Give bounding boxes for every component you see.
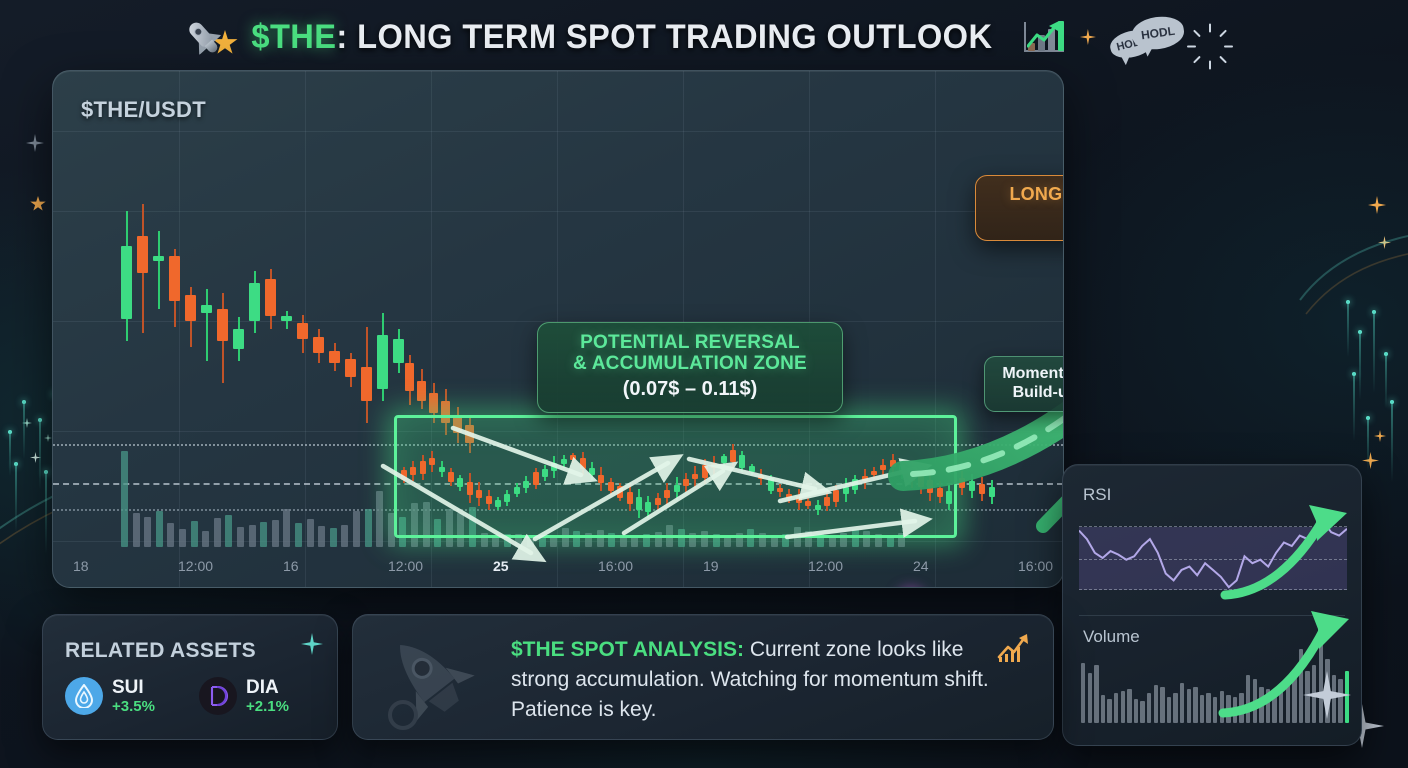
x-axis-tick: 12:00 bbox=[388, 558, 423, 574]
zone-candlestick bbox=[570, 453, 576, 463]
lightning-bolt-icon[interactable] bbox=[896, 587, 926, 588]
candlestick bbox=[405, 355, 414, 405]
related-assets-title: RELATED ASSETS bbox=[65, 639, 256, 663]
zone-candlestick bbox=[843, 478, 849, 502]
volume-bar bbox=[272, 520, 279, 547]
volume-bar bbox=[295, 523, 302, 547]
particle-streak bbox=[1347, 300, 1349, 357]
zone-candlestick bbox=[457, 475, 463, 491]
particle-streak bbox=[9, 430, 11, 476]
zone-candlestick bbox=[636, 489, 642, 518]
volume-bar bbox=[144, 517, 151, 547]
volume-panel-bar bbox=[1134, 699, 1138, 723]
volume-panel-bar bbox=[1180, 683, 1184, 723]
zone-candlestick bbox=[514, 483, 520, 497]
zone-candlestick bbox=[786, 489, 792, 503]
volume-panel-bar bbox=[1200, 695, 1204, 723]
volume-panel-bar bbox=[1193, 687, 1197, 723]
zone-candlestick bbox=[476, 482, 482, 507]
header-bar: $THE: LONG TERM SPOT TRADING OUTLOOK HOD… bbox=[0, 8, 1408, 66]
x-axis-tick: 16:00 bbox=[598, 558, 633, 574]
x-axis-tick: 24 bbox=[913, 558, 929, 574]
sui-droplet-icon bbox=[65, 677, 103, 715]
volume-bar bbox=[179, 529, 186, 547]
candlestick bbox=[281, 311, 292, 329]
page-title-rest: : LONG TERM SPOT TRADING OUTLOOK bbox=[336, 18, 992, 56]
volume-bar bbox=[237, 527, 244, 547]
zone-candlestick bbox=[909, 462, 915, 488]
candlestick bbox=[313, 329, 324, 363]
zone-candlestick bbox=[824, 492, 830, 511]
volume-panel-bar bbox=[1187, 689, 1191, 723]
zone-candlestick bbox=[805, 498, 811, 509]
zone-candlestick bbox=[420, 455, 426, 480]
zone-candlestick bbox=[561, 455, 567, 468]
candlestick bbox=[169, 249, 180, 327]
candlestick bbox=[233, 317, 244, 361]
volume-bar bbox=[260, 522, 267, 547]
particle-streak bbox=[1359, 330, 1361, 400]
zone-candlestick bbox=[664, 483, 670, 504]
volume-bar bbox=[249, 525, 256, 547]
x-axis-tick: 16 bbox=[283, 558, 299, 574]
target-box-line1: LONG TERM TARGET ZONE: bbox=[988, 184, 1064, 205]
page-title-ticker: $THE bbox=[252, 18, 337, 56]
zone-candlestick bbox=[702, 459, 708, 484]
sparkle-icon bbox=[1080, 29, 1096, 45]
zone-candlestick bbox=[495, 497, 501, 511]
candlestick bbox=[361, 327, 372, 423]
target-box-line2: 0.40$ – 0.60$ bbox=[988, 207, 1064, 230]
zone-candlestick bbox=[645, 496, 651, 518]
volume-bar bbox=[307, 519, 314, 547]
zone-candlestick bbox=[401, 467, 407, 483]
analysis-label: $THE SPOT ANALYSIS: bbox=[511, 638, 744, 661]
zone-candlestick bbox=[410, 461, 416, 481]
candlestick bbox=[249, 271, 260, 333]
zone-label-line2: & ACCUMULATION ZONE bbox=[548, 353, 832, 374]
candlestick bbox=[265, 269, 276, 329]
zone-candlestick bbox=[674, 477, 680, 500]
zone-candlestick bbox=[730, 444, 736, 468]
candlestick bbox=[329, 343, 340, 371]
zone-candlestick bbox=[937, 481, 943, 503]
page-title: $THE: LONG TERM SPOT TRADING OUTLOOK bbox=[252, 18, 993, 57]
volume-bar bbox=[191, 521, 198, 547]
zone-candlestick bbox=[833, 485, 839, 507]
particle-streak bbox=[1385, 352, 1387, 408]
candlestick bbox=[345, 353, 356, 387]
chart-arrow-icon bbox=[1027, 21, 1063, 49]
volume-panel-bar bbox=[1147, 693, 1151, 723]
x-axis-tick: 18 bbox=[73, 558, 89, 574]
volume-bar bbox=[202, 531, 209, 547]
zone-candlestick bbox=[946, 485, 952, 510]
volume-bar bbox=[341, 525, 348, 547]
candlestick bbox=[979, 477, 985, 501]
zone-candlestick bbox=[768, 475, 774, 494]
zone-candlestick bbox=[580, 452, 586, 476]
particle-streak bbox=[1391, 400, 1393, 482]
volume-panel-bar bbox=[1173, 693, 1177, 723]
asset-change: +2.1% bbox=[246, 698, 289, 715]
candlestick bbox=[297, 315, 308, 353]
zone-candlestick bbox=[627, 484, 633, 511]
volume-panel-bar bbox=[1154, 685, 1158, 723]
sunburst-icon bbox=[1196, 23, 1224, 51]
zone-candlestick bbox=[655, 493, 661, 510]
zone-candlestick bbox=[711, 456, 717, 476]
zone-candlestick bbox=[692, 466, 698, 488]
zone-candlestick bbox=[551, 456, 557, 478]
volume-bar bbox=[121, 451, 128, 547]
candlestick bbox=[989, 480, 995, 504]
particle-streak bbox=[23, 400, 25, 459]
zone-candlestick bbox=[899, 460, 905, 479]
volume-bar bbox=[376, 491, 383, 547]
rsi-title: RSI bbox=[1083, 485, 1111, 505]
asset-item-dia[interactable]: DIA +2.1% bbox=[199, 677, 289, 716]
main-chart-panel[interactable]: $THE/USDT bbox=[52, 70, 1064, 588]
zone-candlestick bbox=[598, 467, 604, 490]
analysis-text: $THE SPOT ANALYSIS: Current zone looks l… bbox=[511, 635, 1011, 724]
volume-bar bbox=[365, 509, 372, 547]
x-axis-tick: 16:00 bbox=[1018, 558, 1053, 574]
zone-candlestick bbox=[448, 468, 454, 486]
volume-title: Volume bbox=[1083, 627, 1140, 647]
zone-label-line3: (0.07$ – 0.11$) bbox=[548, 378, 832, 401]
rocket-icon bbox=[176, 10, 230, 64]
volume-panel-bar bbox=[1094, 665, 1098, 723]
volume-bar bbox=[214, 518, 221, 547]
zone-candlestick bbox=[796, 489, 802, 510]
zone-candlestick bbox=[486, 490, 492, 510]
accumulation-zone-label: POTENTIAL REVERSAL & ACCUMULATION ZONE (… bbox=[537, 322, 843, 413]
volume-panel-bar bbox=[1140, 701, 1144, 723]
zone-candlestick bbox=[758, 469, 764, 485]
volume-bar bbox=[330, 528, 337, 547]
zone-candlestick bbox=[852, 475, 858, 494]
volume-panel-bar bbox=[1081, 663, 1085, 723]
trend-up-icon bbox=[997, 633, 1031, 663]
gridline-horizontal bbox=[53, 211, 1063, 212]
asset-item-sui[interactable]: SUI +3.5% bbox=[65, 677, 155, 716]
gridline-horizontal bbox=[53, 131, 1063, 132]
particle-streak bbox=[15, 462, 17, 533]
volume-panel-bar bbox=[1160, 687, 1164, 723]
candlestick bbox=[393, 329, 404, 373]
candlestick bbox=[417, 369, 426, 409]
chart-increasing-icon bbox=[1022, 17, 1066, 57]
volume-panel-bar bbox=[1101, 695, 1105, 723]
zone-candlestick bbox=[721, 454, 727, 466]
zone-candlestick bbox=[608, 478, 614, 495]
zone-candlestick bbox=[429, 451, 435, 472]
particle-streak bbox=[39, 418, 41, 490]
momentum-badge: Momentum Build-up bbox=[984, 356, 1064, 412]
rsi-trend-arrow bbox=[1213, 505, 1361, 605]
candlestick bbox=[153, 231, 164, 309]
candlestick bbox=[185, 287, 196, 347]
hodl-bubbles-icon: HODL HODL bbox=[1110, 13, 1182, 61]
particle-streak bbox=[1353, 372, 1355, 441]
long-term-target-box: LONG TERM TARGET ZONE: 0.40$ – 0.60$ bbox=[975, 175, 1064, 241]
zone-candlestick bbox=[467, 473, 473, 503]
zone-candlestick bbox=[815, 500, 821, 515]
analysis-panel[interactable]: $THE SPOT ANALYSIS: Current zone looks l… bbox=[352, 614, 1054, 740]
zone-candlestick bbox=[683, 473, 689, 493]
indicator-panel[interactable]: RSI Volume bbox=[1062, 464, 1362, 746]
volume-bar bbox=[225, 515, 232, 547]
particle-streak bbox=[1373, 310, 1375, 393]
zone-candlestick bbox=[871, 467, 877, 479]
x-axis-tick: 19 bbox=[703, 558, 719, 574]
asset-symbol: DIA bbox=[246, 677, 289, 698]
zone-candlestick bbox=[504, 490, 510, 506]
zone-candlestick bbox=[777, 484, 783, 497]
x-axis-tick: 25 bbox=[493, 558, 509, 574]
related-assets-panel[interactable]: RELATED ASSETS SUI +3.5% DIA +2.1% bbox=[42, 614, 338, 740]
volume-bar bbox=[156, 511, 163, 547]
zone-candlestick bbox=[927, 472, 933, 501]
zone-candlestick bbox=[880, 459, 886, 475]
asset-symbol: SUI bbox=[112, 677, 155, 698]
zone-candlestick bbox=[523, 476, 529, 493]
zone-candlestick bbox=[439, 461, 445, 477]
zone-candlestick bbox=[533, 468, 539, 489]
volume-panel-bar bbox=[1107, 699, 1111, 723]
rocket-icon bbox=[367, 627, 497, 735]
zone-candlestick bbox=[862, 469, 868, 489]
volume-panel-bar bbox=[1167, 697, 1171, 723]
zone-candlestick bbox=[918, 468, 924, 494]
candlestick bbox=[201, 289, 212, 361]
zone-label-line1: POTENTIAL REVERSAL bbox=[548, 332, 832, 353]
zone-candlestick bbox=[617, 483, 623, 501]
momentum-badge-line2: Build-up bbox=[991, 383, 1064, 402]
volume-bar bbox=[133, 513, 140, 547]
volume-bar bbox=[318, 526, 325, 547]
volume-bar bbox=[167, 523, 174, 547]
momentum-badge-line1: Momentum bbox=[991, 364, 1064, 383]
candlestick bbox=[137, 204, 148, 333]
asset-change: +3.5% bbox=[112, 698, 155, 715]
particle-streak bbox=[45, 470, 47, 554]
volume-panel-bar bbox=[1114, 693, 1118, 723]
candlestick bbox=[969, 474, 975, 498]
sparkle-icon bbox=[301, 633, 323, 655]
zone-candlestick bbox=[542, 465, 548, 482]
candlestick bbox=[377, 313, 388, 401]
zone-candlestick bbox=[890, 454, 896, 473]
zone-candlestick bbox=[749, 464, 755, 475]
candlestick bbox=[121, 211, 132, 341]
particle-streak bbox=[1367, 416, 1369, 471]
candlestick bbox=[959, 471, 965, 495]
x-axis-tick: 12:00 bbox=[808, 558, 843, 574]
volume-bar bbox=[353, 511, 360, 547]
volume-trend-arrow bbox=[1211, 605, 1361, 725]
volume-panel-bar bbox=[1121, 691, 1125, 723]
zone-candlestick bbox=[739, 451, 745, 471]
dia-letter-icon bbox=[199, 677, 237, 715]
volume-panel-bar bbox=[1127, 689, 1131, 723]
volume-panel-bar bbox=[1088, 673, 1092, 723]
zone-candlestick bbox=[589, 462, 595, 480]
volume-bar bbox=[283, 509, 290, 547]
pair-label: $THE/USDT bbox=[81, 97, 206, 123]
x-axis-tick: 12:00 bbox=[178, 558, 213, 574]
candlestick bbox=[217, 293, 228, 383]
